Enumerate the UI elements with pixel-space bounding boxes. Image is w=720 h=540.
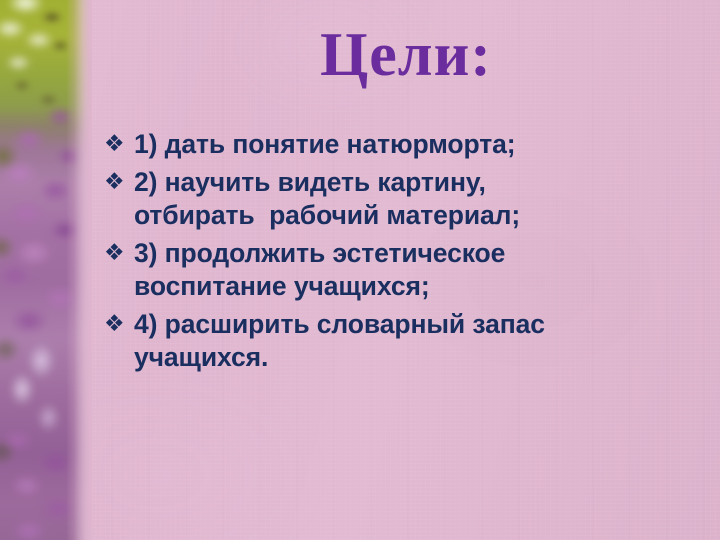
list-item: ❖ 2) научить видеть картину, отбирать ра… [104, 166, 710, 232]
diamond-bullet-icon: ❖ [104, 166, 134, 199]
objectives-list: ❖ 1) дать понятие натюрморта; ❖ 2) научи… [104, 128, 710, 379]
lilac-flowers-image [0, 0, 92, 540]
list-item-text: 3) продолжить эстетическое воспитание уч… [134, 237, 710, 303]
diamond-bullet-icon: ❖ [104, 237, 134, 270]
lilac-photo-strip [0, 0, 92, 540]
diamond-bullet-icon: ❖ [104, 128, 134, 161]
list-item-text: 4) расширить словарный запас учащихся. [134, 308, 710, 374]
slide-title: Цели: [92, 24, 720, 86]
list-item: ❖ 1) дать понятие натюрморта; [104, 128, 710, 161]
list-item-text: 1) дать понятие натюрморта; [134, 128, 710, 161]
list-item: ❖ 4) расширить словарный запас учащихся. [104, 308, 710, 374]
presentation-slide: Цели: ❖ 1) дать понятие натюрморта; ❖ 2)… [0, 0, 720, 540]
list-item: ❖ 3) продолжить эстетическое воспитание … [104, 237, 710, 303]
list-item-text: 2) научить видеть картину, отбирать рабо… [134, 166, 710, 232]
diamond-bullet-icon: ❖ [104, 308, 134, 341]
